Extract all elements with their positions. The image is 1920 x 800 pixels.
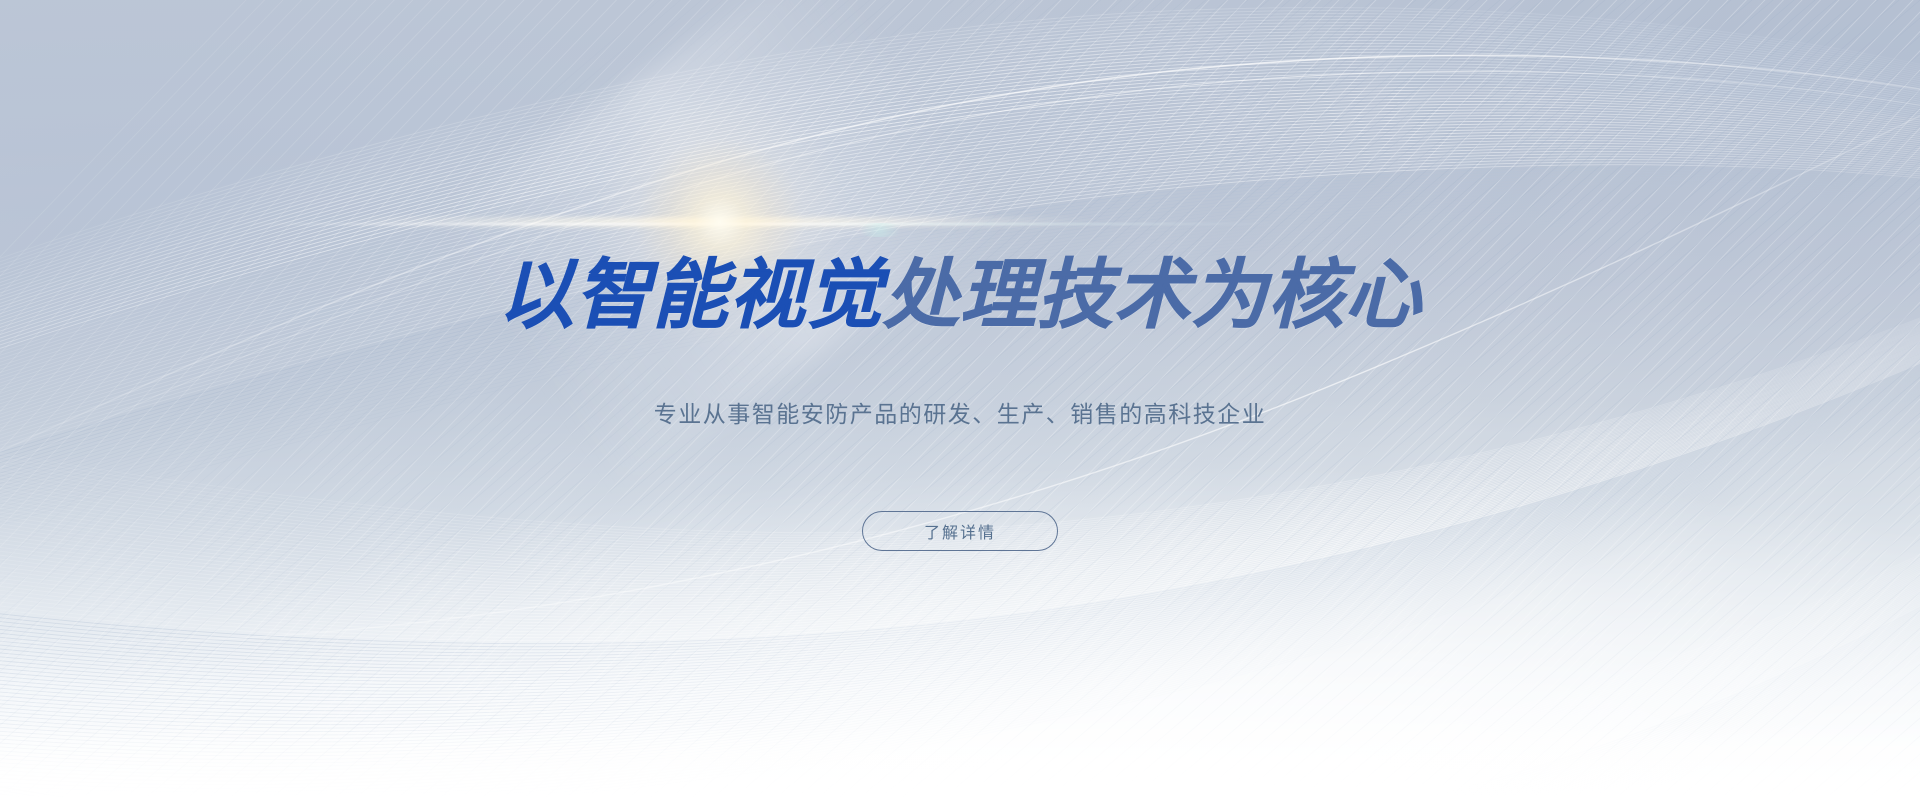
headline-soft-text: 处理技术为核心 (883, 253, 1422, 338)
hero-banner: 以智能视觉处理技术为核心 专业从事智能安防产品的研发、生产、销售的高科技企业 了… (0, 0, 1920, 800)
page-title: 以智能视觉处理技术为核心 (498, 258, 1422, 334)
learn-more-button[interactable]: 了解详情 (862, 511, 1058, 551)
headline-strong-text: 以智能视觉 (498, 253, 883, 338)
hero-subtitle: 专业从事智能安防产品的研发、生产、销售的高科技企业 (654, 398, 1267, 430)
